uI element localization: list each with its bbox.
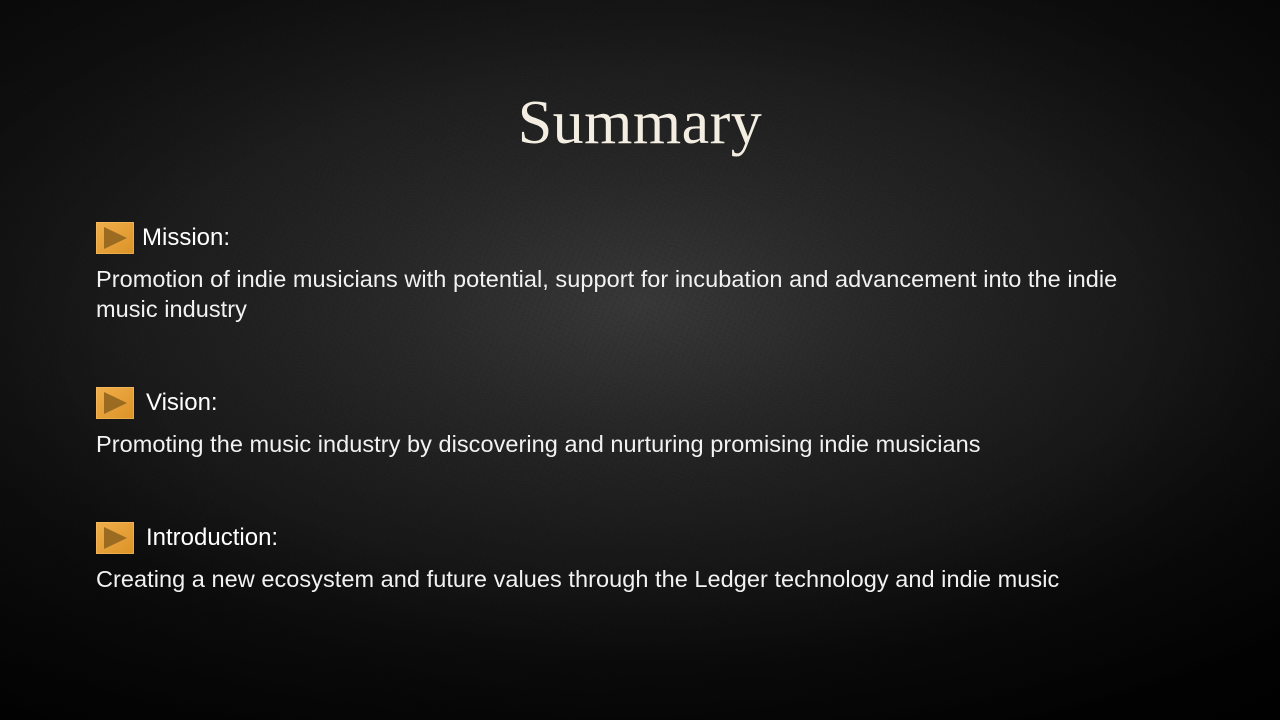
section-body-text: Creating a new ecosystem and future valu… <box>96 564 1141 594</box>
section-vision: Vision: Promoting the music industry by … <box>96 387 1196 459</box>
section-heading-row: Vision: <box>96 387 1196 419</box>
section-heading-label: Mission: <box>142 222 230 254</box>
play-triangle-bullet-icon <box>96 222 134 254</box>
section-mission: Mission: Promotion of indie musicians wi… <box>96 222 1196 324</box>
play-triangle-bullet-icon <box>96 387 134 419</box>
play-triangle-bullet-icon <box>96 522 134 554</box>
section-heading-label: Vision: <box>146 387 218 419</box>
page-title: Summary <box>0 92 1280 154</box>
section-body-text: Promoting the music industry by discover… <box>96 429 1141 459</box>
section-heading-label: Introduction: <box>146 522 278 554</box>
section-heading-row: Mission: <box>96 222 1196 254</box>
section-introduction: Introduction: Creating a new ecosystem a… <box>96 522 1196 594</box>
presentation-slide: Summary Mission: Promotion of indie musi… <box>0 0 1280 720</box>
section-body-text: Promotion of indie musicians with potent… <box>96 264 1141 324</box>
slide-content: Summary Mission: Promotion of indie musi… <box>0 0 1280 720</box>
section-heading-row: Introduction: <box>96 522 1196 554</box>
